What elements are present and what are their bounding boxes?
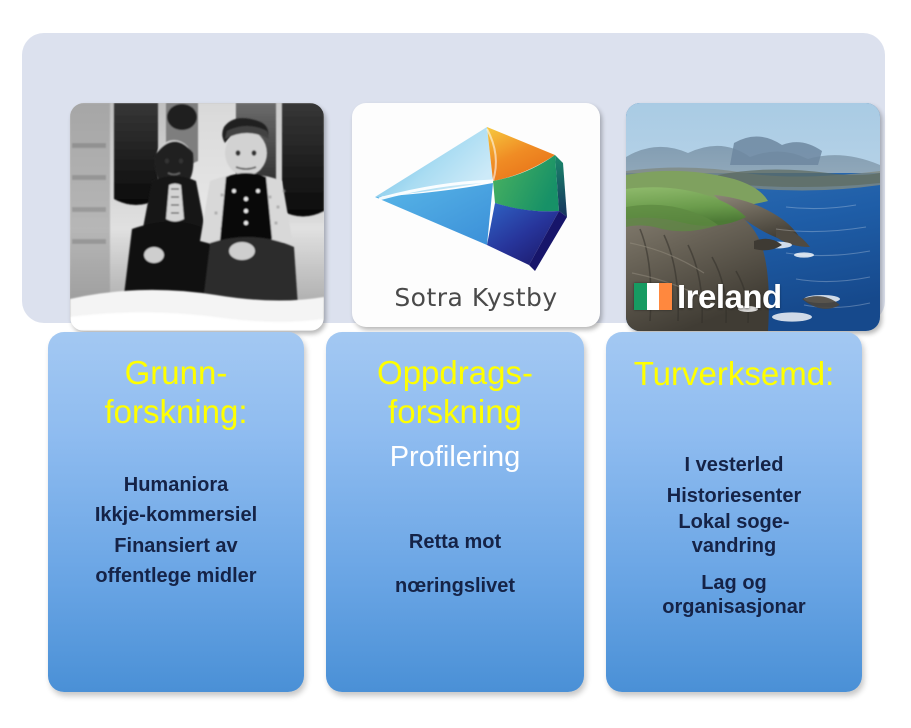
panel-1-title: Grunn- forskning: xyxy=(58,354,294,432)
panel-2-body: Retta mot nœringslivet xyxy=(336,527,574,602)
panel-grunnforskning[interactable]: Grunn- forskning: Humaniora Ikkje-kommer… xyxy=(48,332,304,692)
historic-photo-image xyxy=(70,103,324,331)
panel-turverksemd[interactable]: Turverksemd: I vesterled Historiesenter … xyxy=(606,332,862,692)
panel-oppdragsforskning[interactable]: Oppdrags- forskning Profilering Retta mo… xyxy=(326,332,584,692)
panel-1-body: Humaniora Ikkje-kommersiel Finansiert av… xyxy=(58,470,294,592)
ireland-caption-label: Ireland xyxy=(677,280,782,313)
sotra-kystby-wordmark: Sotra Kystby xyxy=(394,283,557,312)
ireland-caption-badge: Ireland xyxy=(634,280,782,313)
panel-3-title: Turverksemd: xyxy=(616,354,852,394)
historic-photo-card[interactable] xyxy=(70,103,324,331)
panel-2-title: Oppdrags- forskning xyxy=(336,354,574,432)
panel-2-subtitle: Profilering xyxy=(336,440,574,475)
panel-3-body: I vesterled Historiesenter Lokal soge- v… xyxy=(616,450,852,619)
top-image-group: Sotra Kystby xyxy=(22,33,885,323)
sotra-kystby-logo-card[interactable]: Sotra Kystby xyxy=(352,103,600,327)
ireland-flag-icon xyxy=(634,283,672,310)
sotra-kystby-logo-icon xyxy=(369,119,583,279)
ireland-photo-card[interactable]: Ireland xyxy=(626,103,880,331)
